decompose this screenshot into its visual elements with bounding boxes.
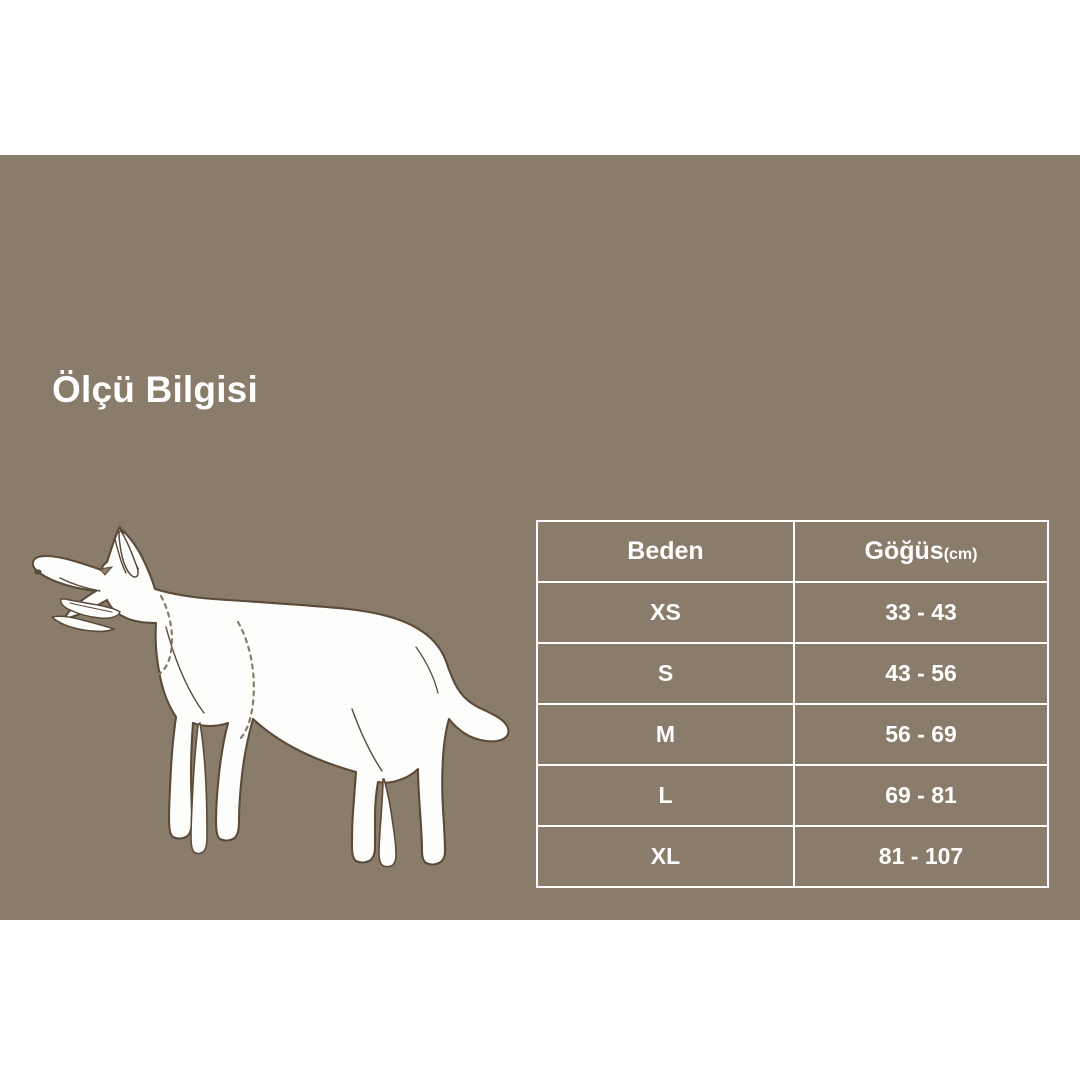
column-header-chest-label: Göğüs [865, 537, 944, 565]
page-title: Ölçü Bilgisi [52, 371, 258, 408]
column-header-size-label: Beden [627, 537, 703, 565]
content-panel: Ölçü Bilgisi [0, 155, 1080, 920]
dog-nose [34, 569, 41, 574]
dog-body-group [33, 527, 509, 867]
cell-chest: 81 - 107 [794, 826, 1048, 887]
table-body: XS 33 - 43 S 43 - 56 M 56 - 69 L 69 - 81… [537, 582, 1048, 887]
table-row: XS 33 - 43 [537, 582, 1048, 643]
dog-rear-far-leg [379, 779, 396, 867]
cell-size: L [537, 765, 794, 826]
cell-chest: 33 - 43 [794, 582, 1048, 643]
cell-size: XL [537, 826, 794, 887]
table-header-row: Beden Göğüs(cm) [537, 521, 1048, 582]
column-header-chest-unit: (cm) [944, 546, 978, 563]
cell-size: M [537, 704, 794, 765]
cell-size: XS [537, 582, 794, 643]
cell-chest: 43 - 56 [794, 643, 1048, 704]
dog-body-outline [33, 527, 509, 865]
column-header-size: Beden [537, 521, 794, 582]
cell-chest: 56 - 69 [794, 704, 1048, 765]
column-header-chest: Göğüs(cm) [794, 521, 1048, 582]
size-chart-page: Ölçü Bilgisi [0, 0, 1080, 1080]
table-row: S 43 - 56 [537, 643, 1048, 704]
dog-front-far-leg [191, 723, 207, 854]
dog-side-view-illustration [8, 517, 528, 889]
table-header: Beden Göğüs(cm) [537, 521, 1048, 582]
cell-chest: 69 - 81 [794, 765, 1048, 826]
size-chart-table: Beden Göğüs(cm) XS 33 - 43 S 43 - 56 [536, 520, 1049, 888]
table-row: M 56 - 69 [537, 704, 1048, 765]
cell-size: S [537, 643, 794, 704]
table-row: L 69 - 81 [537, 765, 1048, 826]
table-row: XL 81 - 107 [537, 826, 1048, 887]
